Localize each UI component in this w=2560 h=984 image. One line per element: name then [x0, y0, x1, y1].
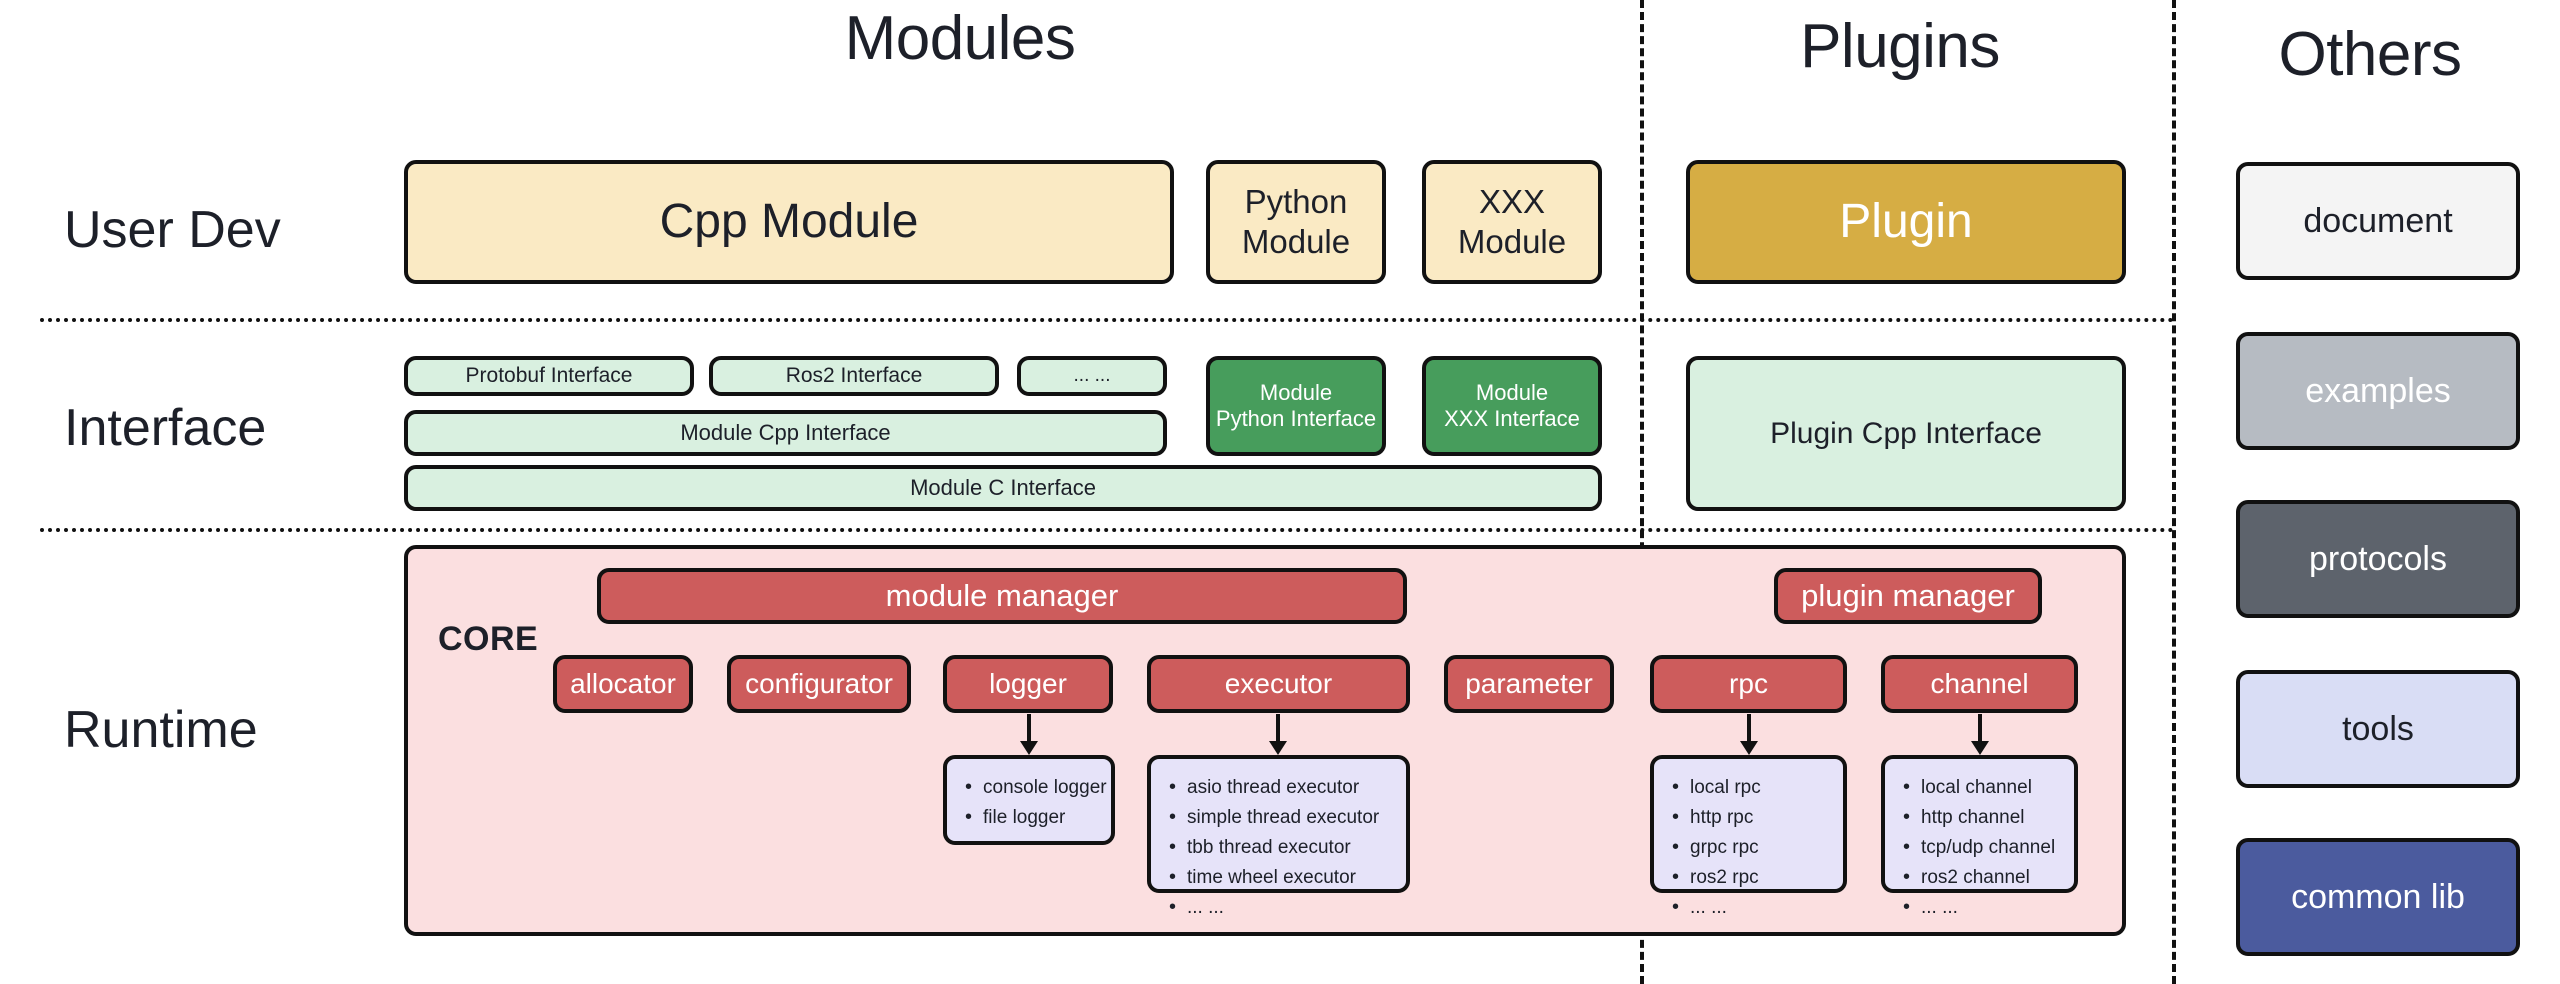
node-protobuf-interface[interactable]: Protobuf Interface — [404, 356, 694, 396]
column-title-modules: Modules — [640, 8, 1280, 70]
node-executor[interactable]: executor — [1147, 655, 1410, 713]
node-module-python-interface[interactable]: Module Python Interface — [1206, 356, 1386, 456]
details-channel: local channelhttp channeltcp/udp channel… — [1881, 755, 2078, 893]
details-logger-list: console loggerfile logger — [961, 773, 1101, 833]
node-common-lib[interactable]: common lib — [2236, 838, 2520, 956]
node-allocator[interactable]: allocator — [553, 655, 693, 713]
detail-list-item: console logger — [983, 773, 1101, 803]
details-channel-list: local channelhttp channeltcp/udp channel… — [1899, 773, 2064, 923]
node-plugin-cpp-interface[interactable]: Plugin Cpp Interface — [1686, 356, 2126, 511]
node-module-manager[interactable]: module manager — [597, 568, 1407, 624]
details-rpc-list: local rpchttp rpcgrpc rpcros2 rpc... ... — [1668, 773, 1833, 923]
node-configurator[interactable]: configurator — [727, 655, 911, 713]
detail-list-item: grpc rpc — [1690, 833, 1833, 863]
detail-list-item: ros2 channel — [1921, 863, 2064, 893]
detail-list-item: time wheel executor — [1187, 863, 1396, 893]
node-module-xxx-interface[interactable]: Module XXX Interface — [1422, 356, 1602, 456]
details-rpc: local rpchttp rpcgrpc rpcros2 rpc... ... — [1650, 755, 1847, 893]
detail-list-item: simple thread executor — [1187, 803, 1396, 833]
divider-plugins-others — [2172, 0, 2176, 984]
detail-list-item: ros2 rpc — [1690, 863, 1833, 893]
node-plugin-manager[interactable]: plugin manager — [1774, 568, 2042, 624]
detail-list-item: asio thread executor — [1187, 773, 1396, 803]
detail-list-item: local channel — [1921, 773, 2064, 803]
core-label: CORE — [438, 620, 538, 659]
column-title-others: Others — [2190, 24, 2550, 86]
node-xxx-module[interactable]: XXX Module — [1422, 160, 1602, 284]
node-ros2-interface[interactable]: Ros2 Interface — [709, 356, 999, 396]
arrow-channel-to-details — [1967, 714, 1993, 756]
detail-list-item: local rpc — [1690, 773, 1833, 803]
arrow-rpc-to-details — [1736, 714, 1762, 756]
node-more-interface[interactable]: ... ... — [1017, 356, 1167, 396]
node-cpp-module[interactable]: Cpp Module — [404, 160, 1174, 284]
node-logger[interactable]: logger — [943, 655, 1113, 713]
details-logger: console loggerfile logger — [943, 755, 1115, 845]
details-executor: asio thread executorsimple thread execut… — [1147, 755, 1410, 893]
detail-list-item: tbb thread executor — [1187, 833, 1396, 863]
node-module-cpp-interface[interactable]: Module Cpp Interface — [404, 410, 1167, 456]
node-channel[interactable]: channel — [1881, 655, 2078, 713]
detail-list-item: ... ... — [1690, 893, 1833, 923]
arrow-logger-to-details — [1016, 714, 1042, 756]
detail-list-item: tcp/udp channel — [1921, 833, 2064, 863]
row-label-runtime: Runtime — [64, 700, 258, 760]
node-document[interactable]: document — [2236, 162, 2520, 280]
detail-list-item: file logger — [983, 803, 1101, 833]
arrow-executor-to-details — [1265, 714, 1291, 756]
column-title-plugins: Plugins — [1660, 16, 2140, 78]
node-plugin[interactable]: Plugin — [1686, 160, 2126, 284]
row-label-user-dev: User Dev — [64, 200, 281, 260]
detail-list-item: ... ... — [1921, 893, 2064, 923]
node-rpc[interactable]: rpc — [1650, 655, 1847, 713]
node-tools[interactable]: tools — [2236, 670, 2520, 788]
row-label-interface: Interface — [64, 398, 266, 458]
node-examples[interactable]: examples — [2236, 332, 2520, 450]
node-protocols[interactable]: protocols — [2236, 500, 2520, 618]
detail-list-item: ... ... — [1187, 893, 1396, 923]
detail-list-item: http rpc — [1690, 803, 1833, 833]
divider-interface-runtime — [40, 528, 2175, 532]
detail-list-item: http channel — [1921, 803, 2064, 833]
divider-userdev-interface — [40, 318, 2175, 322]
node-module-c-interface[interactable]: Module C Interface — [404, 465, 1602, 511]
details-executor-list: asio thread executorsimple thread execut… — [1165, 773, 1396, 923]
node-python-module[interactable]: Python Module — [1206, 160, 1386, 284]
node-parameter[interactable]: parameter — [1444, 655, 1614, 713]
